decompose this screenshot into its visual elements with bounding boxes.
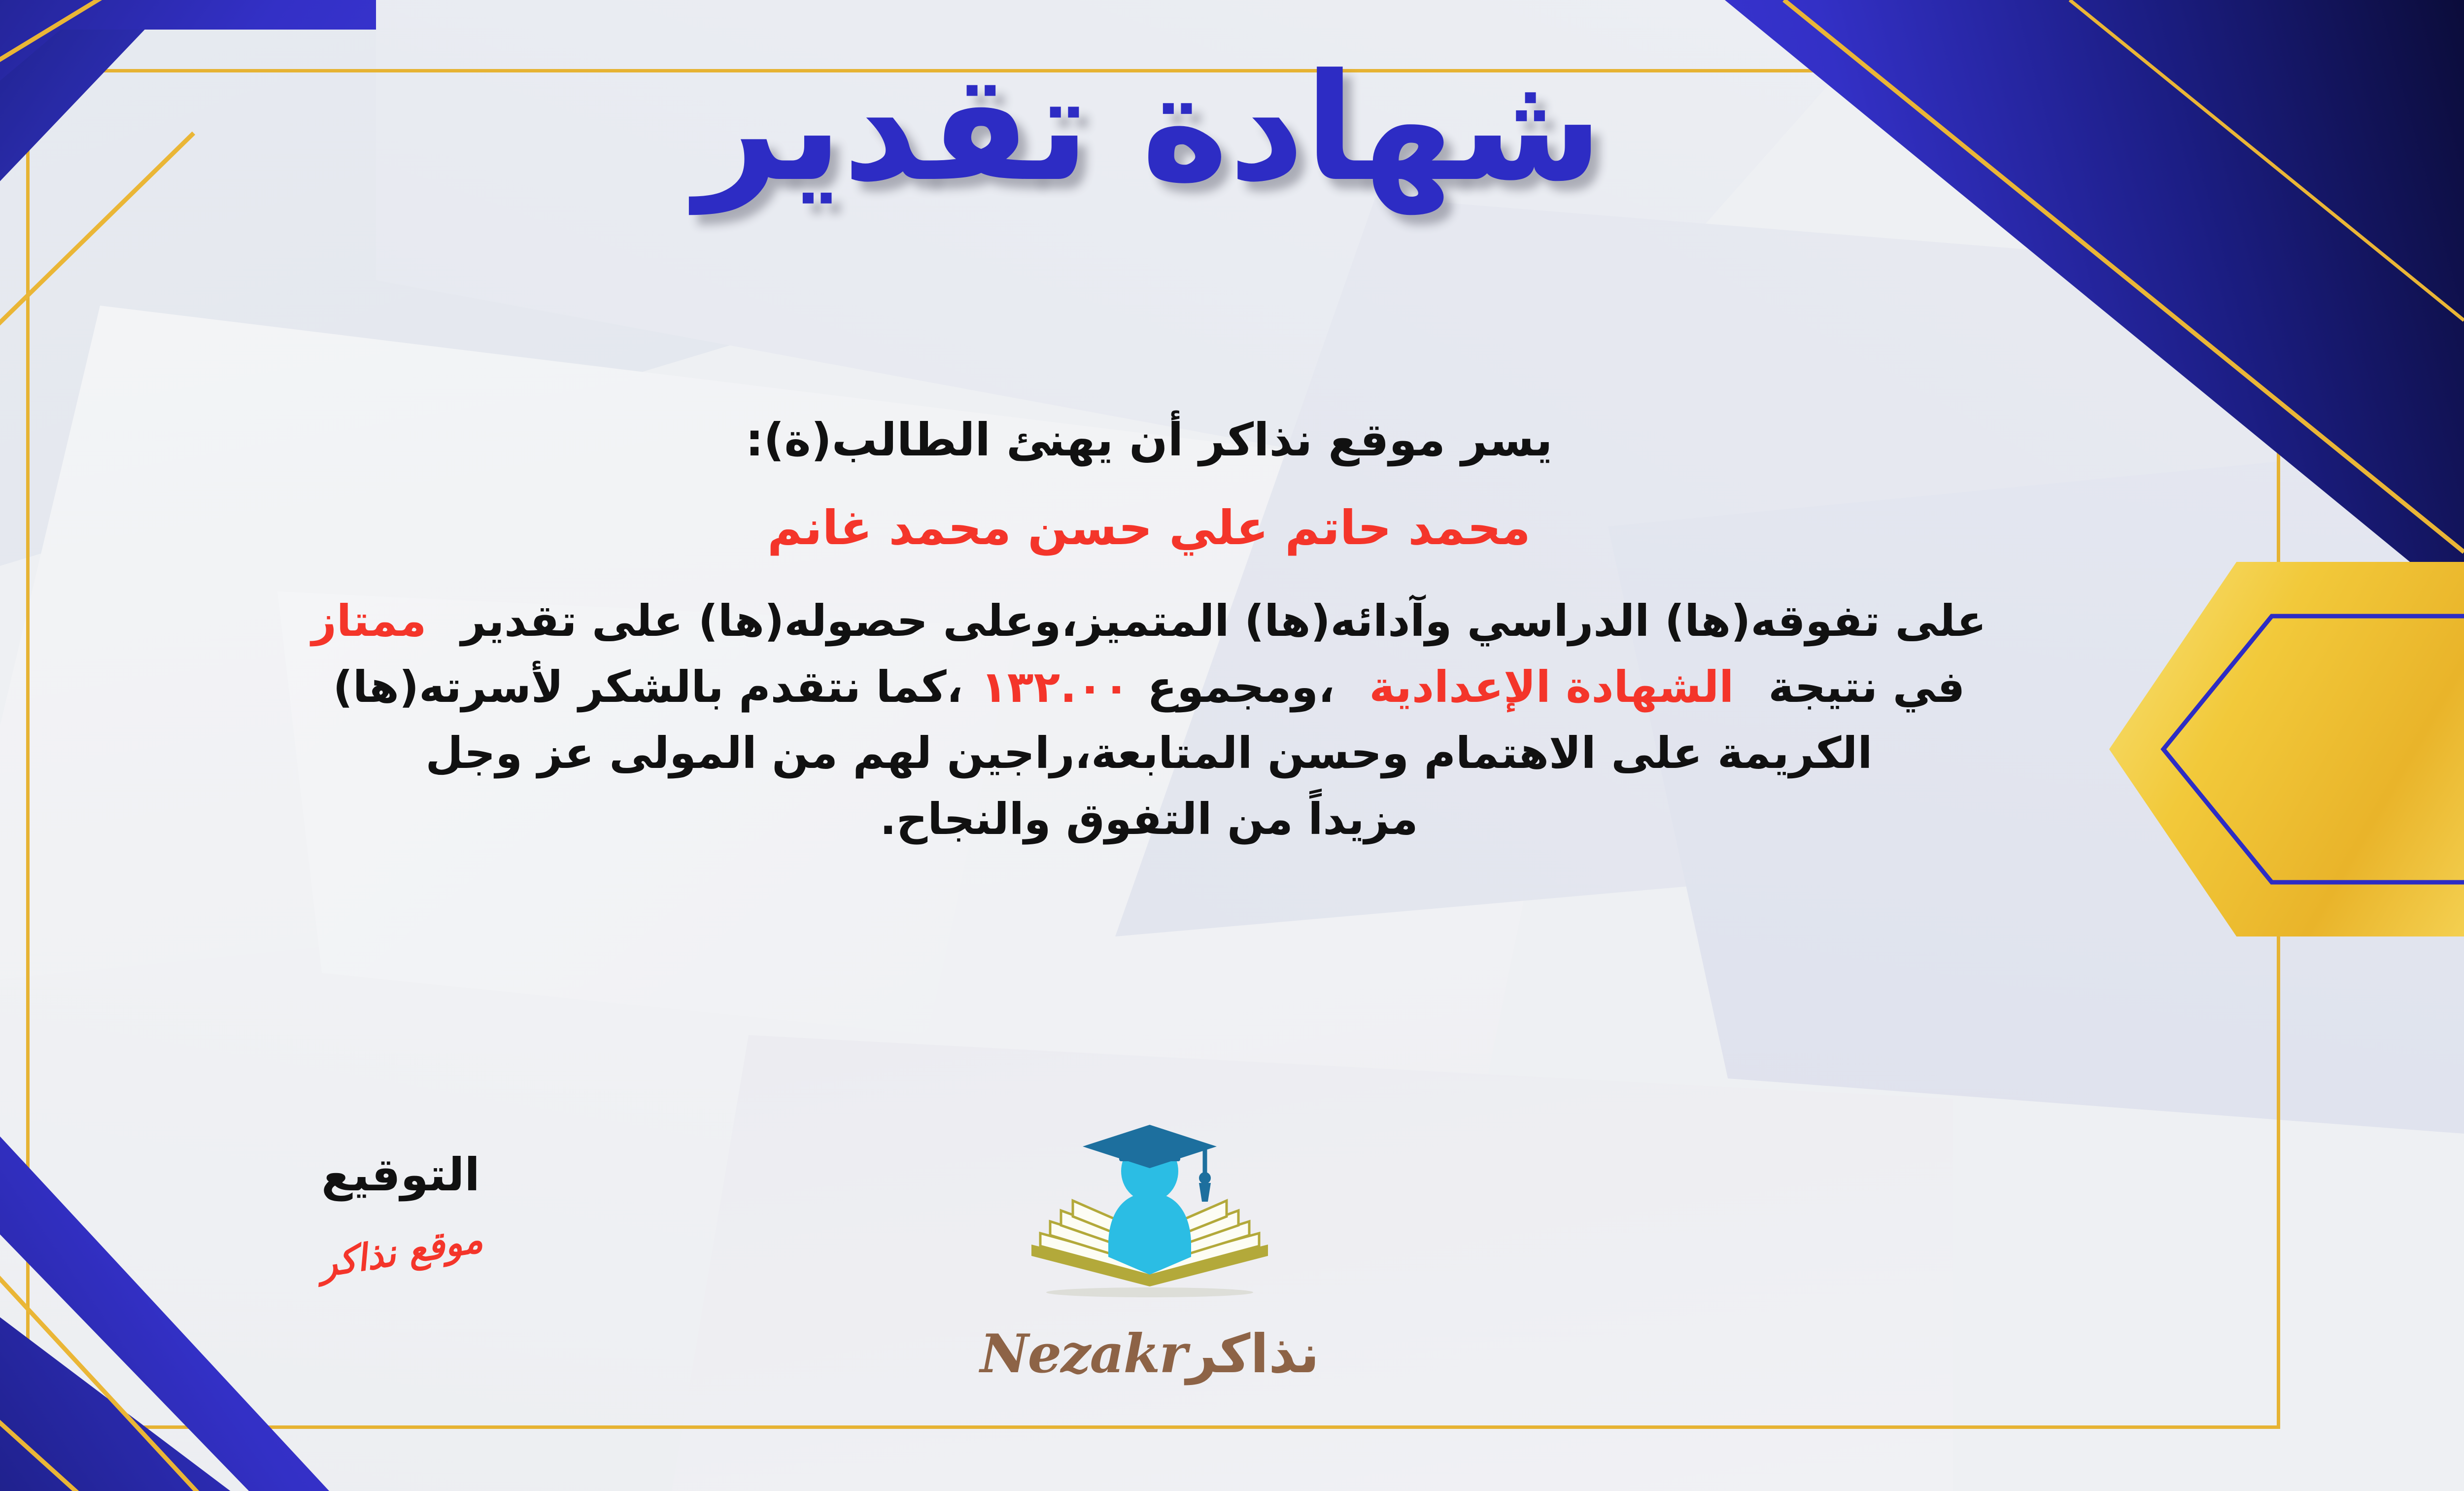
- total-score: ١٣٢.٠٠: [981, 661, 1129, 712]
- signature-mark: موقع نذاكر: [316, 1218, 485, 1285]
- certificate-canvas: شهادة تقدير يسر موقع نذاكر أن يهنئ الطال…: [0, 0, 2464, 1491]
- grade-value: ممتاز: [311, 595, 426, 646]
- certificate-body: يسر موقع نذاكر أن يهنئ الطالب(ة): محمد ح…: [31, 409, 2267, 852]
- paragraph-line-3: الكريمة على الاهتمام وحسن المتابعة،راجين…: [31, 720, 2267, 786]
- graduate-book-logo-icon: [1012, 1124, 1288, 1336]
- signature-area: التوقيع موقع نذاكر: [218, 1148, 583, 1273]
- paragraph-line-1: على تفوقه(ها) الدراسي وآدائه(ها) المتميز…: [31, 588, 2267, 654]
- logo-wordmark: نذاكرNezakr: [962, 1323, 1337, 1385]
- student-name: محمد حاتم علي حسن محمد غانم: [31, 495, 2267, 560]
- exam-name: الشهادة الإعدادية: [1369, 661, 1734, 712]
- certificate-content: شهادة تقدير يسر موقع نذاكر أن يهنئ الطال…: [0, 0, 2464, 1491]
- result-prefix: في نتيجة: [1768, 661, 1965, 712]
- logo-latin-text: Nezakr: [980, 1323, 1186, 1385]
- total-prefix: ،ومجموع: [1147, 661, 1335, 712]
- certificate-title: شهادة تقدير: [0, 54, 2464, 202]
- thanks-text: ،كما نتقدم بالشكر لأسرته(ها): [333, 661, 963, 712]
- greeting-line: يسر موقع نذاكر أن يهنئ الطالب(ة):: [31, 409, 2267, 472]
- logo-arabic-text: نذاكر: [1186, 1323, 1319, 1385]
- achievement-text: على تفوقه(ها) الدراسي وآدائه(ها) المتميز…: [461, 595, 1986, 646]
- body-paragraph: على تفوقه(ها) الدراسي وآدائه(ها) المتميز…: [31, 588, 2267, 852]
- paragraph-line-4: مزيداً من التفوق والنجاح.: [31, 786, 2267, 852]
- site-logo: نذاكرNezakr: [962, 1124, 1337, 1385]
- paragraph-line-2: في نتيجةالشهادة الإعدادية،ومجموع١٣٢.٠٠،ك…: [31, 654, 2267, 720]
- signature-label: التوقيع: [218, 1148, 583, 1201]
